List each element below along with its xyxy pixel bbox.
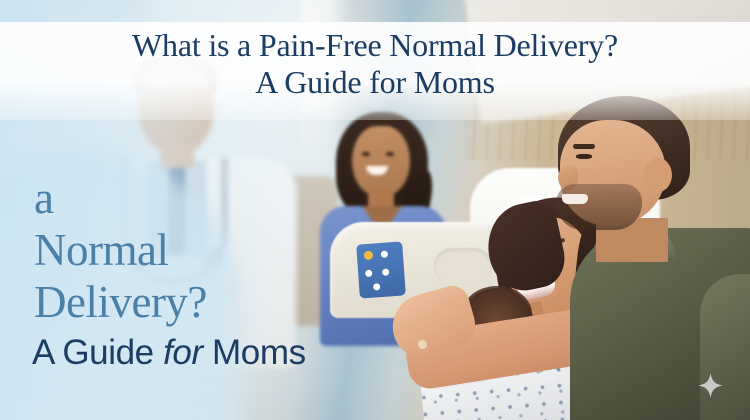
feature-subtitle: A Guide for Moms (32, 333, 306, 373)
feature-line-2: Normal (34, 224, 207, 276)
subtitle-prefix: A Guide (32, 333, 163, 372)
article-hero-banner: What is a Pain-Free Normal Delivery? A G… (0, 0, 750, 420)
subtitle-suffix: Moms (203, 333, 306, 372)
feature-heading: a Normal Delivery? (34, 172, 207, 328)
subtitle-emphasis: for (163, 333, 203, 372)
feature-line-1: a (34, 172, 207, 224)
page-title: What is a Pain-Free Normal Delivery? A G… (0, 27, 750, 101)
headline-line-2: A Guide for Moms (0, 64, 750, 101)
feature-line-3: Delivery? (34, 276, 207, 328)
headline-line-1: What is a Pain-Free Normal Delivery? (132, 27, 618, 63)
sparkle-icon (698, 373, 723, 398)
